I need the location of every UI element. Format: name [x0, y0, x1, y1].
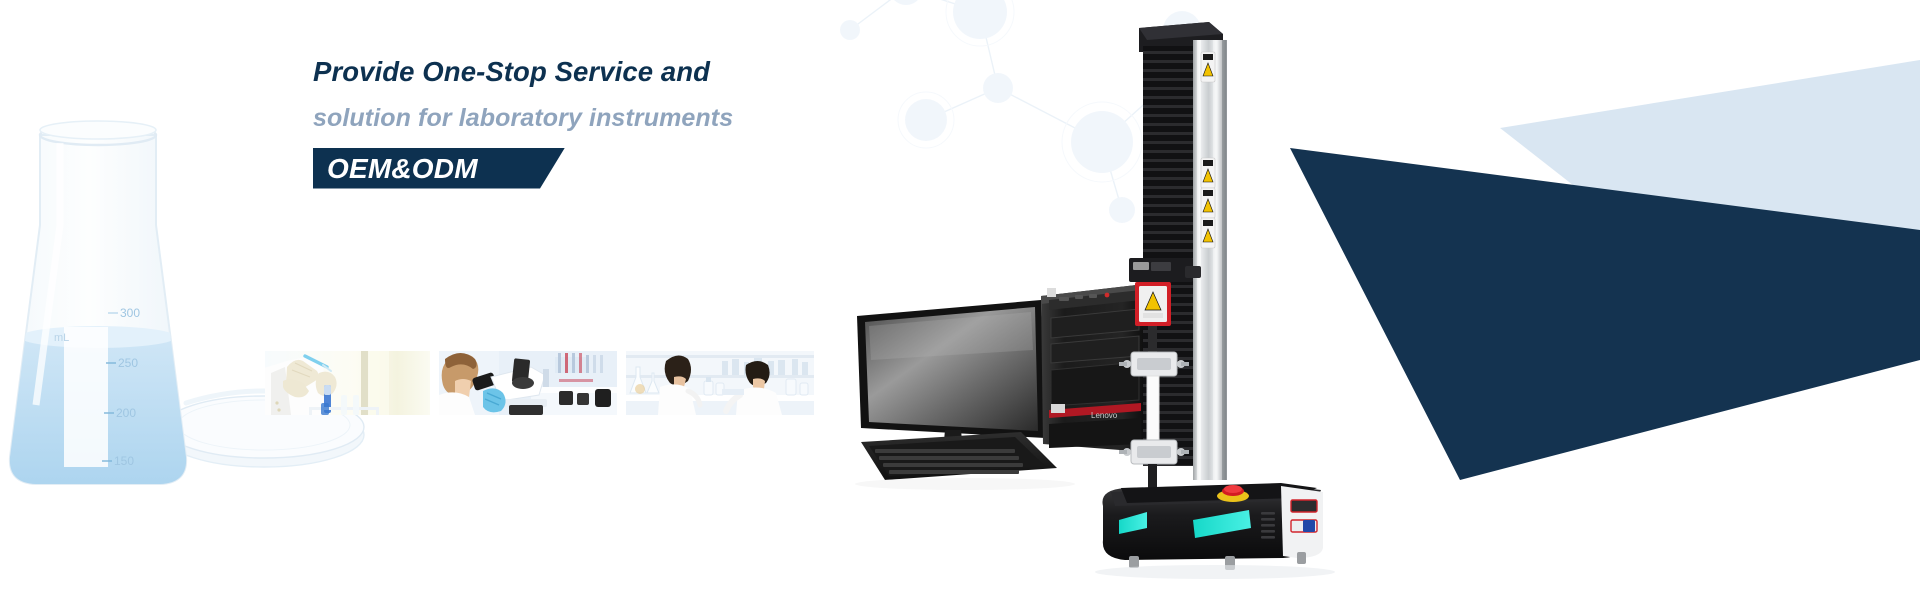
svg-text:200: 200	[116, 406, 136, 420]
promo-banner: 300 250 200 150 mL Provide One-Stop Serv…	[0, 0, 1920, 597]
keyboard	[855, 432, 1075, 490]
oem-odm-badge: OEM&ODM	[313, 148, 512, 189]
svg-text:300: 300	[120, 306, 140, 320]
universal-tensile-testing-machine	[1085, 0, 1375, 597]
lab-photo-strip	[265, 351, 814, 415]
machine-base	[1095, 483, 1335, 579]
light-blue-arrow-icon	[1500, 60, 1920, 360]
photo-microscope	[439, 351, 617, 415]
crosshead	[1129, 258, 1201, 282]
load-cell	[1135, 282, 1171, 326]
photo-pipetting	[265, 351, 430, 415]
test-column	[1193, 40, 1227, 480]
svg-text:250: 250	[118, 356, 138, 370]
badge-label: OEM&ODM	[313, 148, 512, 189]
svg-text:mL: mL	[54, 332, 69, 344]
photo-lab-bench	[626, 351, 814, 415]
svg-text:150: 150	[114, 454, 134, 468]
